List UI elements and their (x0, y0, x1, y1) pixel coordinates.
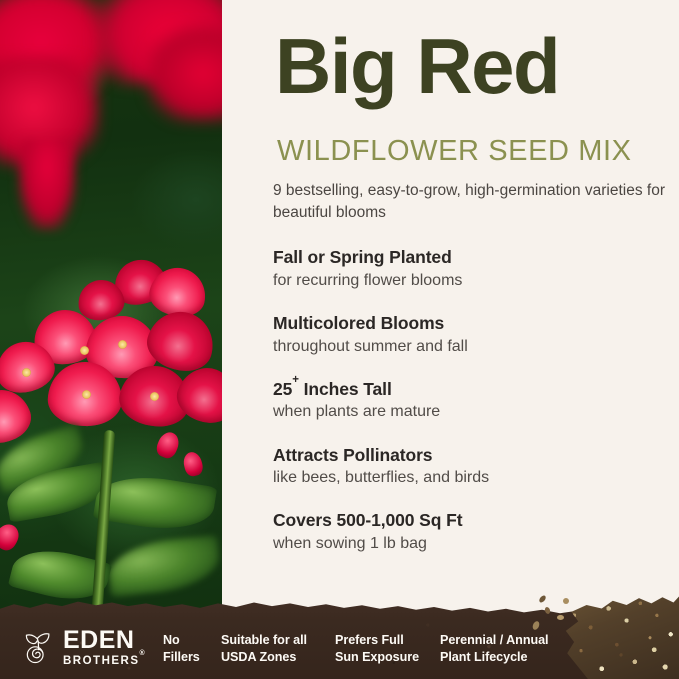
feature-item: Fall or Spring Planted for recurring flo… (273, 246, 673, 291)
badge-line-2: USDA Zones (221, 650, 296, 664)
badge-line-1: Prefers Full (335, 633, 404, 647)
feature-subtext: when sowing 1 lb bag (273, 533, 673, 555)
footer-badge-no-fillers: No Fillers (163, 632, 200, 666)
logo-line-brothers: BROTHERS® (63, 654, 146, 667)
feature-subtext: when plants are mature (273, 401, 673, 423)
badge-line-1: Perennial / Annual (440, 633, 549, 647)
feature-item: 25+ Inches Tall when plants are mature (273, 378, 673, 423)
logo-line-eden: EDEN (63, 628, 146, 653)
product-title: Big Red (275, 29, 559, 103)
red-phlox-flowers-photo (0, 0, 222, 679)
footer-badge-plant-lifecycle: Perennial / Annual Plant Lifecycle (440, 632, 549, 666)
logo-wordmark: EDEN BROTHERS® (63, 628, 146, 667)
photo-vignette (0, 0, 222, 679)
badge-line-2: Sun Exposure (335, 650, 419, 664)
badge-line-1: Suitable for all (221, 633, 307, 647)
footer-badge-usda-zones: Suitable for all USDA Zones (221, 632, 307, 666)
seedling-sprout-icon (22, 630, 55, 665)
footer-badge-sun-exposure: Prefers Full Sun Exposure (335, 632, 419, 666)
info-panel: Big Red WILDFLOWER SEED MIX 9 bestsellin… (222, 0, 679, 679)
feature-item: Multicolored Blooms throughout summer an… (273, 312, 673, 357)
footer-band: EDEN BROTHERS® No Fillers Suitable for a… (0, 589, 679, 679)
feature-subtext: like bees, butterflies, and birds (273, 467, 673, 489)
feature-list: Fall or Spring Planted for recurring flo… (273, 246, 673, 575)
badge-line-2: Plant Lifecycle (440, 650, 527, 664)
product-blurb: 9 bestselling, easy-to-grow, high-germin… (273, 180, 673, 225)
feature-subtext: for recurring flower blooms (273, 270, 673, 292)
badge-line-2: Fillers (163, 650, 200, 664)
feature-heading: Attracts Pollinators (273, 444, 673, 467)
badge-line-1: No (163, 633, 180, 647)
feature-item: Covers 500-1,000 Sq Ft when sowing 1 lb … (273, 509, 673, 554)
footer-content: EDEN BROTHERS® No Fillers Suitable for a… (0, 611, 679, 679)
feature-heading: 25+ Inches Tall (273, 378, 673, 401)
feature-item: Attracts Pollinators like bees, butterfl… (273, 444, 673, 489)
registered-mark: ® (140, 650, 147, 657)
product-info-card: Big Red WILDFLOWER SEED MIX 9 bestsellin… (0, 0, 679, 679)
product-subtitle: WILDFLOWER SEED MIX (277, 137, 632, 166)
feature-heading: Covers 500-1,000 Sq Ft (273, 509, 673, 532)
feature-subtext: throughout summer and fall (273, 336, 673, 358)
feature-heading: Multicolored Blooms (273, 312, 673, 335)
feature-heading: Fall or Spring Planted (273, 246, 673, 269)
eden-brothers-logo[interactable]: EDEN BROTHERS® (22, 628, 146, 667)
